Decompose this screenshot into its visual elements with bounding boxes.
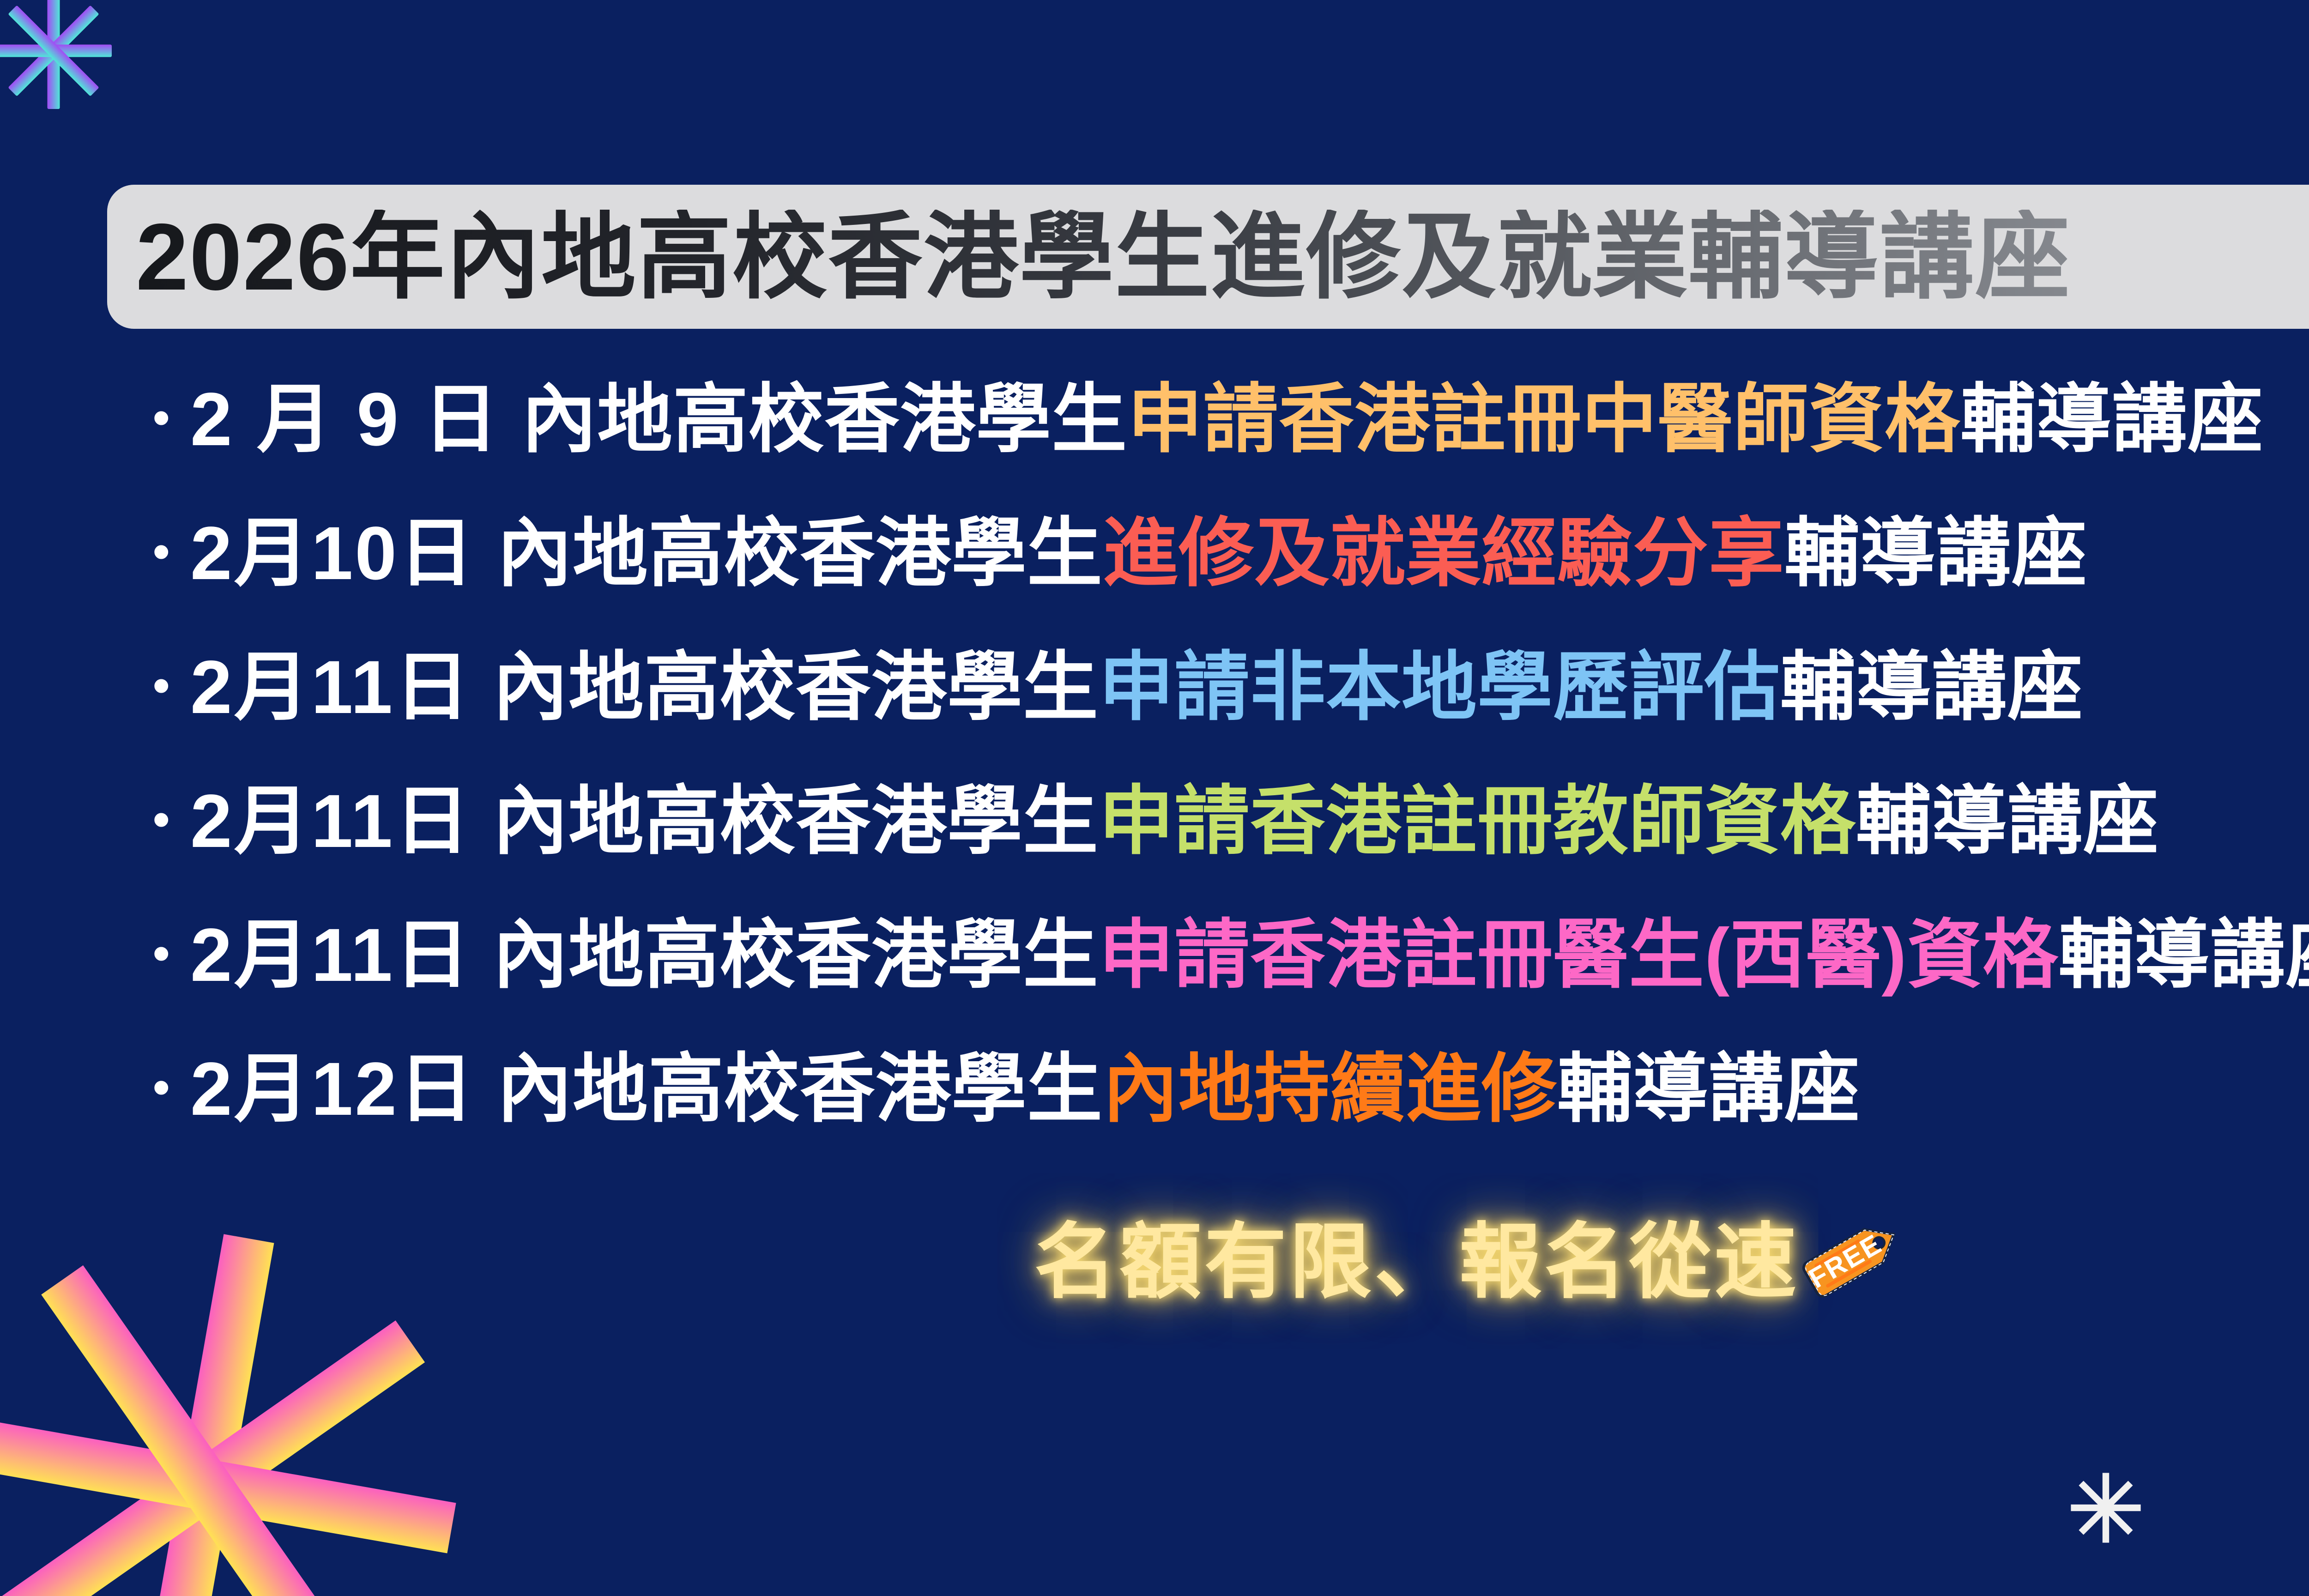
- session-line: 2月12日內地高校香港學生內地持續進修輔導講座: [190, 1051, 1860, 1126]
- starburst-icon-bottom-left: [0, 1201, 490, 1596]
- list-item: • 2月11日內地高校香港學生申請香港註冊醫生(西醫)資格輔導講座: [152, 917, 2309, 1051]
- bullet-icon: •: [152, 393, 190, 443]
- promo-banner: 2026年內地高校香港學生進修及就業輔導講座 • 2 月 9 日內地高校香港學生…: [0, 0, 2309, 1596]
- list-item: • 2月12日內地高校香港學生內地持續進修輔導講座: [152, 1051, 2309, 1185]
- session-prefix: 內地高校香港學生: [493, 913, 1099, 997]
- session-topic: 進修及就業經驗分享: [1103, 511, 1784, 595]
- session-suffix: 輔導講座: [1784, 511, 2087, 595]
- session-date: 2月10日: [190, 511, 476, 595]
- page-title: 2026年內地高校香港學生進修及就業輔導講座: [136, 210, 2071, 304]
- session-date: 2月11日: [190, 645, 471, 729]
- session-suffix: 輔導講座: [1780, 645, 2083, 729]
- bullet-icon: •: [152, 794, 190, 845]
- cta-text: 名額有限、報名從速: [1034, 1219, 1799, 1306]
- session-date: 2 月 9 日: [190, 377, 500, 461]
- session-line: 2 月 9 日內地高校香港學生申請香港註冊中醫師資格輔導講座: [190, 381, 2263, 457]
- bullet-icon: •: [152, 1062, 190, 1113]
- session-prefix: 內地高校香港學生: [497, 1046, 1103, 1131]
- session-prefix: 內地高校香港學生: [497, 511, 1103, 595]
- session-topic: 申請香港註冊中醫師資格: [1127, 377, 1960, 461]
- list-item: • 2月11日內地高校香港學生申請香港註冊教師資格輔導講座: [152, 783, 2309, 917]
- session-topic: 申請非本地學歷評估: [1099, 645, 1780, 729]
- session-line: 2月11日內地高校香港學生申請非本地學歷評估輔導講座: [190, 649, 2083, 725]
- session-topic: 申請香港註冊教師資格: [1099, 779, 1856, 863]
- session-topic: 內地持續進修: [1103, 1046, 1557, 1131]
- session-topic: 申請香港註冊醫生(西醫)資格: [1099, 913, 2059, 997]
- list-item: • 2月10日內地高校香港學生進修及就業經驗分享輔導講座: [152, 515, 2309, 649]
- session-prefix: 內地高校香港學生: [521, 377, 1127, 461]
- list-item: • 2月11日內地高校香港學生申請非本地學歷評估輔導講座: [152, 649, 2309, 783]
- starburst-icon-top-left: [0, 0, 123, 120]
- session-date: 2月12日: [190, 1046, 476, 1131]
- bullet-icon: •: [152, 526, 190, 577]
- bullet-icon: •: [152, 660, 190, 711]
- title-bar: 2026年內地高校香港學生進修及就業輔導講座: [107, 185, 2309, 329]
- session-prefix: 內地高校香港學生: [493, 645, 1099, 729]
- session-suffix: 輔導講座: [1960, 377, 2263, 461]
- session-suffix: 輔導講座: [1557, 1046, 1860, 1131]
- session-date: 2月11日: [190, 779, 471, 863]
- free-price-tag-icon: FREE: [1802, 1203, 1908, 1310]
- session-line: 2月11日內地高校香港學生申請香港註冊醫生(西醫)資格輔導講座: [190, 917, 2309, 992]
- list-item: • 2 月 9 日內地高校香港學生申請香港註冊中醫師資格輔導講座: [152, 381, 2309, 515]
- starburst-icon-small-white: [2064, 1466, 2147, 1549]
- session-date: 2月11日: [190, 913, 471, 997]
- call-to-action: 名額有限、報名從速 FREE: [1034, 1219, 1908, 1310]
- session-line: 2月10日內地高校香港學生進修及就業經驗分享輔導講座: [190, 515, 2087, 591]
- session-line: 2月11日內地高校香港學生申請香港註冊教師資格輔導講座: [190, 783, 2159, 858]
- session-prefix: 內地高校香港學生: [493, 779, 1099, 863]
- session-suffix: 輔導講座: [1856, 779, 2159, 863]
- bullet-icon: •: [152, 928, 190, 979]
- session-list: • 2 月 9 日內地高校香港學生申請香港註冊中醫師資格輔導講座 • 2月10日…: [152, 381, 2309, 1185]
- session-suffix: 輔導講座: [2059, 913, 2309, 997]
